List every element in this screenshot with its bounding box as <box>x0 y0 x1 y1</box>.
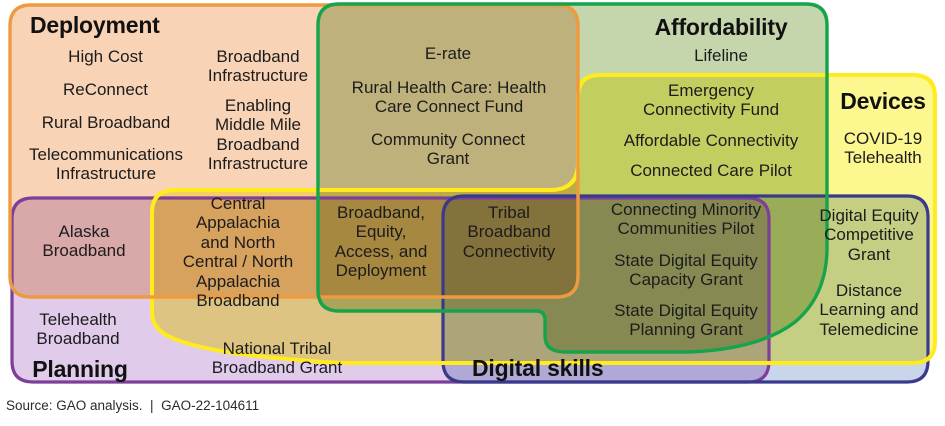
venn-shapes <box>0 0 945 426</box>
source-note: Source: GAO analysis. | GAO-22-104611 <box>6 398 259 413</box>
set-region-digital-skills <box>443 196 928 382</box>
venn-diagram: Deployment High Cost ReConnect Rural Bro… <box>0 0 945 426</box>
